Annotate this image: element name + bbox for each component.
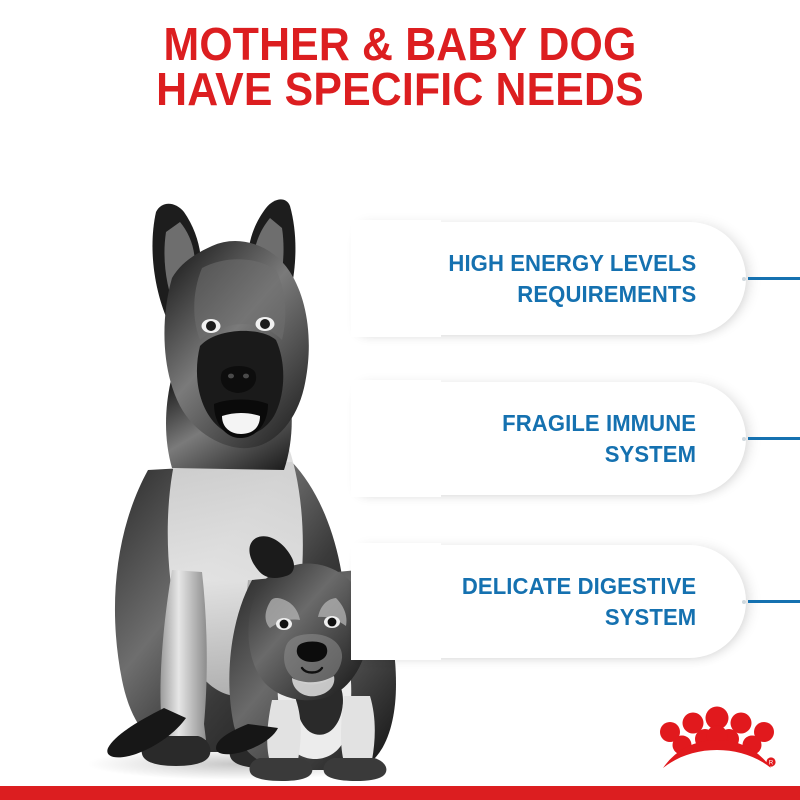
callout-delicate-digestive: DELICATE DIGESTIVE SYSTEM (352, 545, 746, 658)
infographic-page: MOTHER & BABY DOG HAVE SPECIFIC NEEDS (0, 0, 800, 800)
connector-dot-2 (742, 437, 746, 441)
page-title-line-1: MOTHER & BABY DOG (28, 22, 772, 67)
callout-high-energy: HIGH ENERGY LEVELS REQUIREMENTS (352, 222, 746, 335)
callout-high-energy-label: HIGH ENERGY LEVELS REQUIREMENTS (448, 248, 746, 309)
bottom-accent-bar (0, 786, 800, 800)
svg-text:R: R (769, 761, 774, 767)
connector-line-3 (748, 600, 800, 603)
registered-trademark-icon: R (766, 757, 775, 766)
connector-dot-1 (742, 277, 746, 281)
royal-canin-crown-icon: R (655, 702, 779, 774)
callout-delicate-digestive-label: DELICATE DIGESTIVE SYSTEM (462, 571, 746, 632)
connector-line-2 (748, 437, 800, 440)
connector-line-1 (748, 277, 800, 280)
callout-fragile-immune: FRAGILE IMMUNE SYSTEM (352, 382, 746, 495)
callout-fragile-immune-label: FRAGILE IMMUNE SYSTEM (502, 408, 746, 469)
page-title-line-2: HAVE SPECIFIC NEEDS (28, 67, 772, 112)
connector-dot-3 (742, 600, 746, 604)
page-title: MOTHER & BABY DOG HAVE SPECIFIC NEEDS (0, 22, 800, 112)
